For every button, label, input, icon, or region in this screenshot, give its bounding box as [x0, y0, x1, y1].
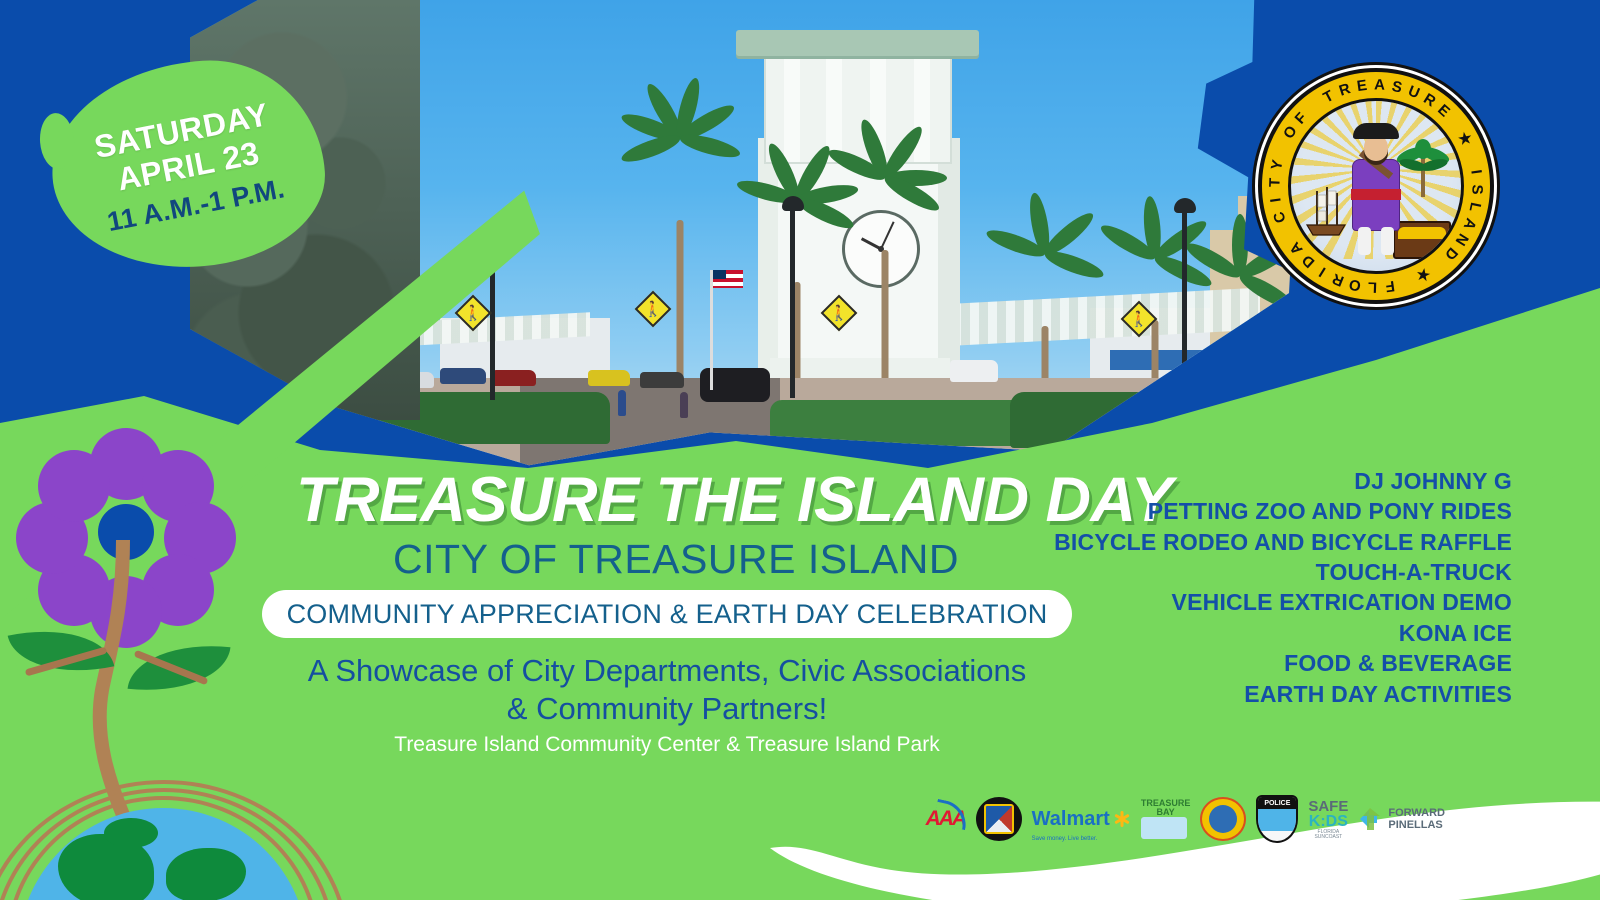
pedestrian	[618, 390, 626, 416]
seal-ring-char: L	[1466, 201, 1485, 214]
activity-item: PETTING ZOO AND PONY RIDES	[952, 496, 1512, 526]
seal-inner-scene	[1288, 98, 1464, 274]
parked-car-4	[588, 370, 630, 386]
sponsor-logos: AAA Walmart Save money. Live better. TRE…	[925, 790, 1445, 848]
lamp-head-2	[1174, 198, 1196, 213]
showcase-line-1: A Showcase of City Departments, Civic As…	[262, 652, 1072, 690]
parked-car-3	[492, 370, 536, 386]
van	[950, 360, 998, 382]
walmart-tagline: Save money. Live better.	[1032, 836, 1098, 842]
seal-ring-char: I	[1267, 197, 1284, 203]
flower-petal	[38, 450, 110, 522]
page-title: TREASURE THE ISLAND DAY	[296, 464, 1056, 536]
flag-pole	[710, 270, 713, 390]
continent	[166, 848, 246, 900]
seal-ring-char: E	[1356, 77, 1368, 95]
forward-pinellas-line-2: PINELLAS	[1388, 819, 1445, 831]
activities-list: DJ JOHNNY GPETTING ZOO AND PONY RIDESBIC…	[952, 466, 1512, 709]
celebration-badge-label: COMMUNITY APPRECIATION & EARTH DAY CELEB…	[287, 599, 1048, 630]
showcase-description: A Showcase of City Departments, Civic As…	[262, 652, 1072, 728]
seal-ring-char: S	[1390, 78, 1403, 97]
seal-ring-char: U	[1406, 82, 1422, 102]
safe-kids-line-3: FLORIDA SUNCOAST	[1308, 830, 1348, 840]
showcase-line-2: & Community Partners!	[262, 690, 1072, 728]
subtitle-city: CITY OF TREASURE ISLAND	[296, 536, 1056, 583]
safe-kids-logo: SAFE K:DS FLORIDA SUNCOAST	[1308, 796, 1348, 842]
activity-item: DJ JOHNNY G	[952, 466, 1512, 496]
continent	[104, 818, 158, 848]
celebration-badge: COMMUNITY APPRECIATION & EARTH DAY CELEB…	[262, 590, 1072, 638]
police-label: POLICE	[1258, 797, 1296, 809]
city-seal-logo: CITY OF TREASURE ★ ISLAND ★ FLORIDA	[1258, 68, 1494, 304]
treasure-bay-mark	[1141, 817, 1187, 839]
safe-kids-line-2: K:DS	[1308, 814, 1348, 830]
seal-ring-char: R	[1337, 80, 1353, 100]
forward-pinellas-logo: FORWARD PINELLAS	[1358, 796, 1445, 842]
seal-ring-char: T	[1266, 178, 1283, 188]
venue-location: Treasure Island Community Center & Treas…	[262, 733, 1072, 757]
walmart-wordmark: Walmart	[1032, 808, 1110, 831]
seal-ring-char: C	[1270, 209, 1290, 225]
seal-ring-char: R	[1330, 270, 1346, 290]
safe-kids-line-1: SAFE	[1308, 799, 1348, 814]
walmart-logo: Walmart Save money. Live better.	[1032, 796, 1131, 842]
activity-item: FOOD & BEVERAGE	[952, 648, 1512, 678]
treasure-island-fire-rescue-logo	[1200, 796, 1246, 842]
seal-ring-char: F	[1384, 277, 1395, 295]
parked-car-5	[640, 372, 684, 388]
seal-ring-char: O	[1348, 275, 1363, 294]
date-badge: SATURDAY APRIL 23 11 A.M.-1 P.M.	[52, 62, 324, 267]
treasure-bay-line-2: BAY	[1141, 808, 1191, 817]
treasure-bay-logo: TREASURE BAY	[1141, 796, 1191, 842]
pinellas-county-schools-logo	[976, 796, 1022, 842]
activity-item: TOUCH-A-TRUCK	[952, 557, 1512, 587]
seal-ring-char: L	[1368, 278, 1378, 295]
seal-pirate-figure	[1345, 123, 1407, 263]
parked-car-2	[440, 368, 486, 384]
seal-ship-icon	[1303, 185, 1349, 237]
treasure-island-police-logo: POLICE	[1256, 796, 1298, 842]
activity-item: BICYCLE RODEO AND BICYCLE RAFFLE	[952, 527, 1512, 557]
seal-ring-char: ★	[1413, 264, 1433, 286]
seal-ring-char: Y	[1268, 158, 1287, 171]
activity-item: EARTH DAY ACTIVITIES	[952, 679, 1512, 709]
pedestrian-2	[680, 392, 688, 418]
walmart-spark-icon	[1113, 810, 1131, 828]
lamp-post	[790, 198, 795, 398]
seal-ring-char: S	[1468, 184, 1485, 195]
forward-pinellas-mark-icon	[1358, 806, 1384, 832]
seal-ring-char: I	[1467, 169, 1484, 175]
seal-ring-char: A	[1374, 76, 1385, 93]
activity-item: VEHICLE EXTRICATION DEMO	[952, 587, 1512, 617]
tower-roof	[736, 30, 979, 56]
american-flag	[713, 270, 743, 288]
forward-pinellas-line-1: FORWARD	[1388, 807, 1445, 819]
seal-ring-char: I	[1316, 263, 1329, 280]
lamp-head	[782, 196, 804, 211]
flyer-canvas: 🚶 🚶 🚶 🚶 SATURDAY APRIL 23 11 A.M.-1 P.	[0, 0, 1600, 900]
seal-ring-char: A	[1460, 216, 1480, 232]
tower-belfry	[764, 54, 952, 164]
activity-item: KONA ICE	[952, 618, 1512, 648]
aaa-logo: AAA	[925, 796, 966, 842]
